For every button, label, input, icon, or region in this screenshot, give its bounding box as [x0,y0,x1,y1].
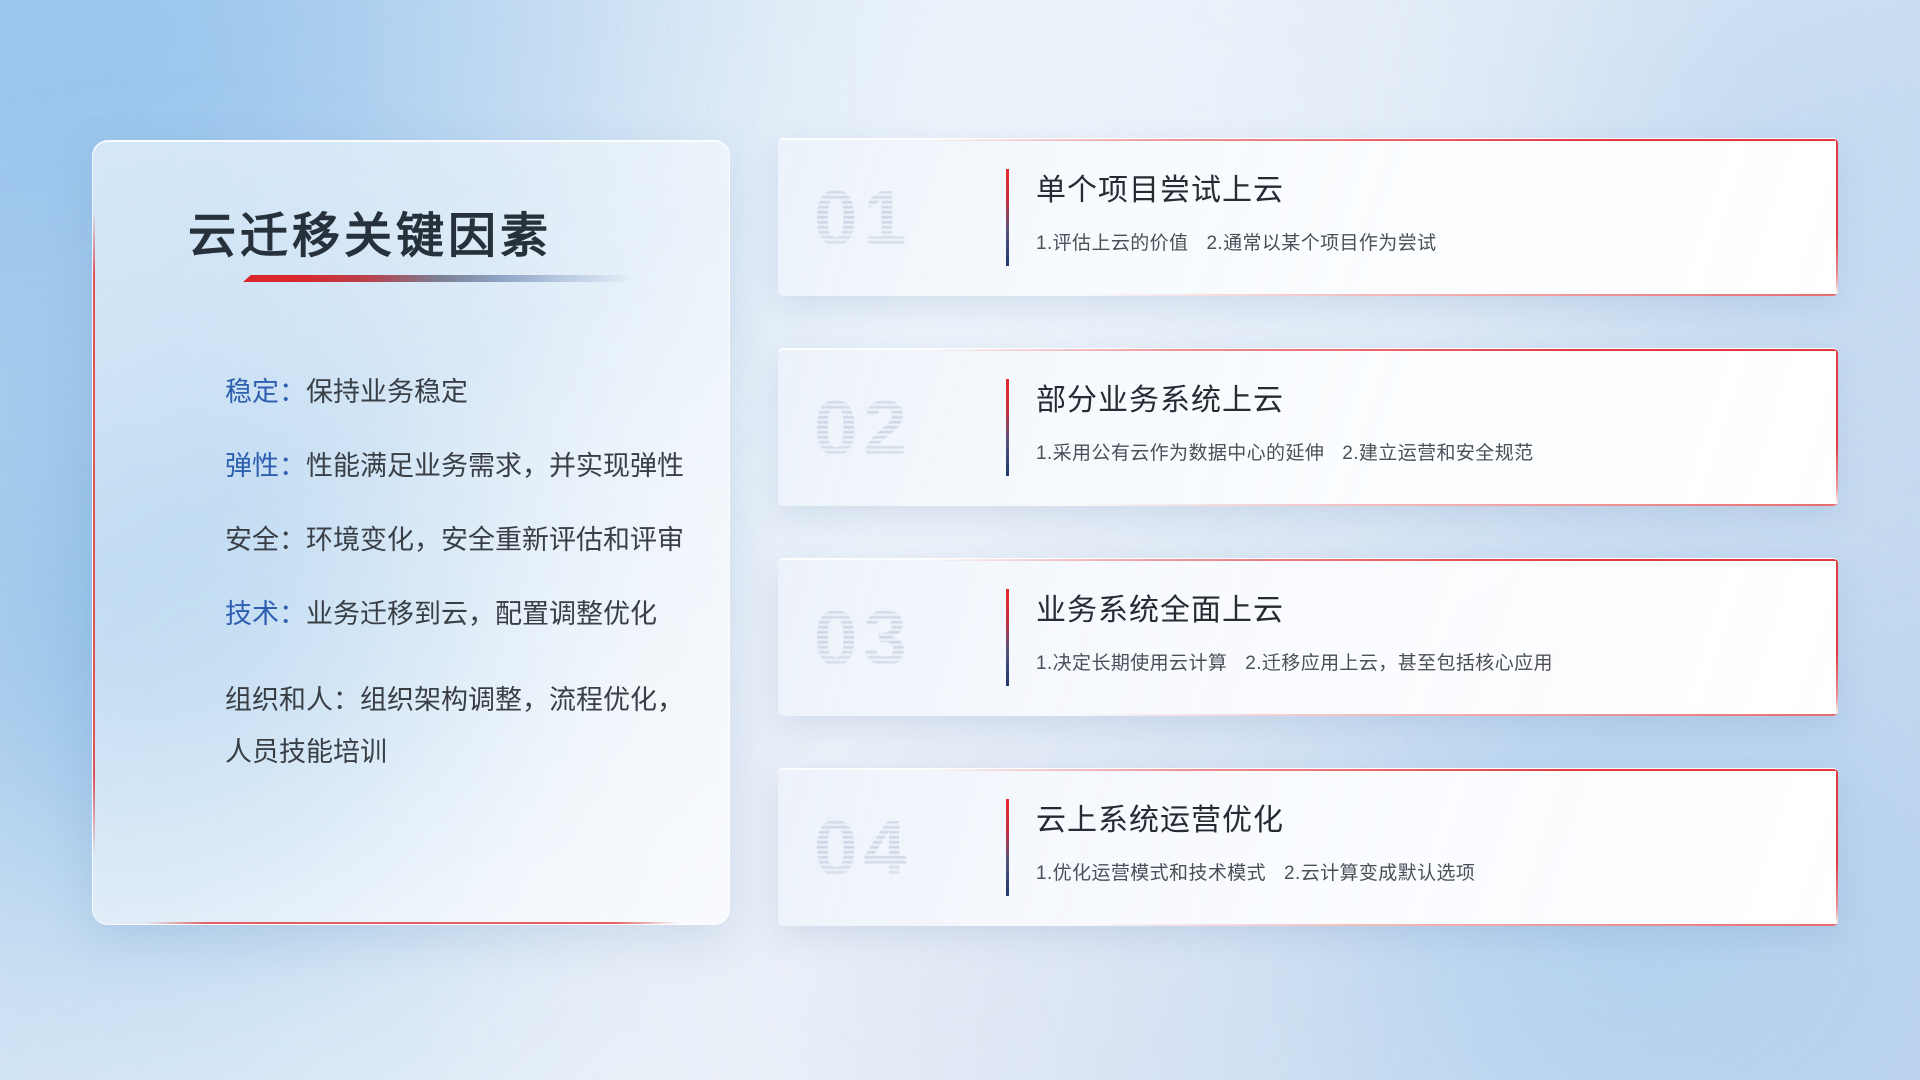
card-accent-right [1836,349,1838,506]
factor-text: 业务迁移到云，配置调整优化 [306,599,657,629]
step-number: 03 [814,592,913,683]
step-divider-bar [1006,169,1009,266]
step-description: 1.优化运营模式和技术模式2.云计算变成默认选项 [1036,858,1804,885]
list-item: 安全：环境变化，安全重新评估和评审 [133,527,703,554]
list-item: 组织和人：组织架构调整，流程优化，人员技能培训 [133,675,703,779]
card-accent-bottom [1075,504,1838,506]
factor-label: 技术： [225,599,306,629]
step-divider-bar [1006,379,1009,476]
step-title: 单个项目尝试上云 [1036,173,1804,209]
title-underline-rule [243,275,633,282]
factor-label: 组织和人： [225,685,360,715]
step-description: 1.采用公有云作为数据中心的延伸2.建立运营和安全规范 [1036,438,1804,465]
step-description: 1.评估上云的价值2.通常以某个项目作为尝试 [1036,228,1804,255]
card-accent-right [1836,139,1838,296]
card-accent-right [1836,559,1838,716]
step-card-01[interactable]: 01 单个项目尝试上云 1.评估上云的价值2.通常以某个项目作为尝试 [778,138,1838,296]
step-card-02[interactable]: 02 部分业务系统上云 1.采用公有云作为数据中心的延伸2.建立运营和安全规范 [778,348,1838,506]
page-title: 云迁移关键因素 [188,196,552,266]
list-item: 弹性：性能满足业务需求，并实现弹性 [133,453,703,480]
step-title: 云上系统运营优化 [1036,803,1804,839]
slide-stage: 云迁移关键因素 稳定：保持业务稳定 弹性：性能满足业务需求，并实现弹性 安全：环… [0,0,1920,1080]
factor-text: 保持业务稳定 [306,377,468,407]
step-number: 01 [814,172,913,263]
factor-label: 弹性： [225,451,306,481]
card-accent-top [926,349,1838,351]
list-item: 技术：业务迁移到云，配置调整优化 [133,601,703,628]
card-accent-bottom [1075,714,1838,716]
factor-label: 稳定： [225,377,306,407]
step-content: 云上系统运营优化 1.优化运营模式和技术模式2.云计算变成默认选项 [1036,803,1804,885]
list-item: 稳定：保持业务稳定 [133,379,703,406]
step-desc-part-1: 1.决定长期使用云计算 [1036,653,1227,674]
migration-steps-list: 01 单个项目尝试上云 1.评估上云的价值2.通常以某个项目作为尝试 02 部分… [778,138,1838,978]
step-desc-part-2: 2.通常以某个项目作为尝试 [1206,233,1436,254]
card-accent-top [926,559,1838,561]
card-accent-bottom [1075,924,1838,926]
factor-text: 性能满足业务需求，并实现弹性 [306,451,684,481]
step-content: 业务系统全面上云 1.决定长期使用云计算2.迁移应用上云，甚至包括核心应用 [1036,593,1804,675]
card-accent-bottom [1075,294,1838,296]
step-card-04[interactable]: 04 云上系统运营优化 1.优化运营模式和技术模式2.云计算变成默认选项 [778,768,1838,926]
card-accent-top [926,769,1838,771]
factor-text: 环境变化，安全重新评估和评审 [306,525,684,555]
card-accent-right [1836,769,1838,926]
step-desc-part-2: 2.建立运营和安全规范 [1342,443,1533,464]
card-accent-top [926,139,1838,141]
step-content: 单个项目尝试上云 1.评估上云的价值2.通常以某个项目作为尝试 [1036,173,1804,255]
step-divider-bar [1006,589,1009,686]
step-card-03[interactable]: 03 业务系统全面上云 1.决定长期使用云计算2.迁移应用上云，甚至包括核心应用 [778,558,1838,716]
step-number: 04 [814,802,913,893]
step-desc-part-1: 1.评估上云的价值 [1036,233,1188,254]
step-desc-part-1: 1.优化运营模式和技术模式 [1036,863,1266,884]
key-factors-panel: 云迁移关键因素 稳定：保持业务稳定 弹性：性能满足业务需求，并实现弹性 安全：环… [92,140,730,925]
step-desc-part-1: 1.采用公有云作为数据中心的延伸 [1036,443,1324,464]
factor-label: 安全： [225,525,306,555]
step-divider-bar [1006,799,1009,896]
step-number: 02 [814,382,913,473]
step-content: 部分业务系统上云 1.采用公有云作为数据中心的延伸2.建立运营和安全规范 [1036,383,1804,465]
step-description: 1.决定长期使用云计算2.迁移应用上云，甚至包括核心应用 [1036,648,1804,675]
step-title: 部分业务系统上云 [1036,383,1804,419]
step-title: 业务系统全面上云 [1036,593,1804,629]
step-desc-part-2: 2.迁移应用上云，甚至包括核心应用 [1245,653,1553,674]
step-desc-part-2: 2.云计算变成默认选项 [1284,863,1475,884]
key-factors-list: 稳定：保持业务稳定 弹性：性能满足业务需求，并实现弹性 安全：环境变化，安全重新… [133,379,703,779]
